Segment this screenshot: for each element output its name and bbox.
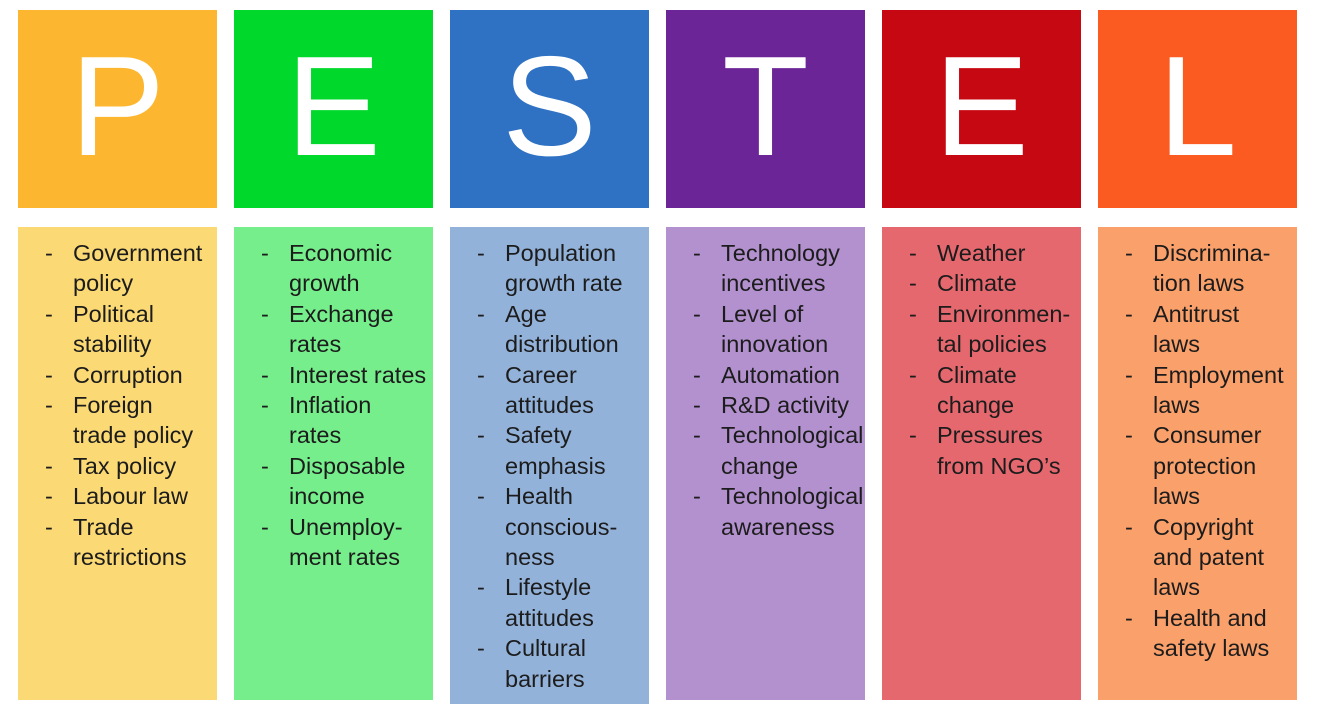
- list-item: -Climate change: [892, 360, 1075, 421]
- list-item: -Cultural barriers: [460, 633, 643, 694]
- list-item-label: Lifestyle attitudes: [505, 574, 594, 630]
- bullet-dash-icon: -: [1125, 420, 1133, 450]
- list-item-label: Economic growth: [289, 240, 392, 296]
- factor-list-technological: -Technology incentives -Level of innovat…: [676, 238, 859, 542]
- list-item-label: Safety emphasis: [505, 422, 606, 478]
- list-item: -Antitrust laws: [1108, 299, 1291, 360]
- list-item: -Climate: [892, 268, 1075, 298]
- letter-glyph-s: S: [502, 36, 597, 178]
- factor-panel-economic: -Economic growth -Exchange rates -Intere…: [234, 227, 433, 700]
- list-item: -Inflation rates: [244, 390, 427, 451]
- list-item-label: Disposable income: [289, 453, 405, 509]
- bullet-dash-icon: -: [45, 238, 53, 268]
- bullet-dash-icon: -: [909, 420, 917, 450]
- list-item: -Population growth rate: [460, 238, 643, 299]
- list-item: -Disposable income: [244, 451, 427, 512]
- pestel-column-political: P -Government policy -Political stabilit…: [18, 10, 217, 700]
- list-item-label: Pressures from NGO’s: [937, 422, 1061, 478]
- list-item: -Level of innovation: [676, 299, 859, 360]
- list-item: -Pressures from NGO’s: [892, 420, 1075, 481]
- bullet-dash-icon: -: [693, 360, 701, 390]
- letter-glyph-e-environmental: E: [934, 36, 1029, 178]
- list-item-label: Unemploy- ment rates: [289, 514, 403, 570]
- factor-panel-legal: -Discrimina- tion laws -Antitrust laws -…: [1098, 227, 1297, 700]
- factor-list-economic: -Economic growth -Exchange rates -Intere…: [244, 238, 427, 572]
- letter-tile-legal: L: [1098, 10, 1297, 208]
- list-item-label: Interest rates: [289, 362, 426, 388]
- list-item: -Labour law: [28, 481, 211, 511]
- factor-list-environmental: -Weather -Climate -Environmen- tal polic…: [892, 238, 1075, 481]
- list-item-label: Antitrust laws: [1153, 301, 1239, 357]
- list-item-label: Cultural barriers: [505, 635, 586, 691]
- list-item: -Consumer protection laws: [1108, 420, 1291, 511]
- list-item: -Interest rates: [244, 360, 427, 390]
- list-item: -Government policy: [28, 238, 211, 299]
- list-item-label: Labour law: [73, 483, 188, 509]
- list-item-label: Automation: [721, 362, 840, 388]
- list-item-label: Technological awareness: [721, 483, 863, 539]
- letter-glyph-e-economic: E: [286, 36, 381, 178]
- letter-tile-political: P: [18, 10, 217, 208]
- bullet-dash-icon: -: [477, 238, 485, 268]
- bullet-dash-icon: -: [909, 360, 917, 390]
- bullet-dash-icon: -: [1125, 603, 1133, 633]
- list-item: -Exchange rates: [244, 299, 427, 360]
- bullet-dash-icon: -: [261, 238, 269, 268]
- bullet-dash-icon: -: [1125, 299, 1133, 329]
- bullet-dash-icon: -: [909, 299, 917, 329]
- list-item-label: Consumer protection laws: [1153, 422, 1261, 509]
- bullet-dash-icon: -: [909, 268, 917, 298]
- list-item-label: Corruption: [73, 362, 183, 388]
- bullet-dash-icon: -: [261, 512, 269, 542]
- list-item-label: Environmen- tal policies: [937, 301, 1070, 357]
- bullet-dash-icon: -: [45, 481, 53, 511]
- letter-glyph-p: P: [70, 36, 165, 178]
- factor-panel-environmental: -Weather -Climate -Environmen- tal polic…: [882, 227, 1081, 700]
- list-item-label: Political stability: [73, 301, 154, 357]
- bullet-dash-icon: -: [1125, 360, 1133, 390]
- bullet-dash-icon: -: [909, 238, 917, 268]
- letter-tile-technological: T: [666, 10, 865, 208]
- pestel-column-economic: E -Economic growth -Exchange rates -Inte…: [234, 10, 433, 700]
- list-item-label: Age distribution: [505, 301, 619, 357]
- list-item-label: Weather: [937, 240, 1025, 266]
- list-item: -Corruption: [28, 360, 211, 390]
- letter-tile-social: S: [450, 10, 649, 208]
- list-item: -Political stability: [28, 299, 211, 360]
- bullet-dash-icon: -: [693, 481, 701, 511]
- list-item: -Technological awareness: [676, 481, 859, 542]
- bullet-dash-icon: -: [693, 299, 701, 329]
- list-item-label: Government policy: [73, 240, 202, 296]
- bullet-dash-icon: -: [477, 299, 485, 329]
- bullet-dash-icon: -: [45, 390, 53, 420]
- bullet-dash-icon: -: [45, 512, 53, 542]
- list-item: -Technology incentives: [676, 238, 859, 299]
- bullet-dash-icon: -: [693, 390, 701, 420]
- list-item-label: Employment laws: [1153, 362, 1284, 418]
- list-item-label: Level of innovation: [721, 301, 828, 357]
- list-item: -Economic growth: [244, 238, 427, 299]
- bullet-dash-icon: -: [1125, 238, 1133, 268]
- list-item-label: Climate change: [937, 362, 1017, 418]
- list-item-label: Inflation rates: [289, 392, 371, 448]
- list-item-label: Technology incentives: [721, 240, 840, 296]
- letter-tile-environmental: E: [882, 10, 1081, 208]
- list-item-label: Copyright and patent laws: [1153, 514, 1264, 601]
- letter-glyph-t: T: [722, 36, 809, 178]
- pestel-column-legal: L -Discrimina- tion laws -Antitrust laws…: [1098, 10, 1297, 700]
- list-item: -Weather: [892, 238, 1075, 268]
- letter-glyph-l: L: [1158, 36, 1237, 178]
- list-item-label: Exchange rates: [289, 301, 394, 357]
- list-item: -Automation: [676, 360, 859, 390]
- list-item: -Safety emphasis: [460, 420, 643, 481]
- list-item: -Health and safety laws: [1108, 603, 1291, 664]
- list-item: -Copyright and patent laws: [1108, 512, 1291, 603]
- list-item: -Age distribution: [460, 299, 643, 360]
- pestel-column-social: S -Population growth rate -Age distribut…: [450, 10, 649, 704]
- bullet-dash-icon: -: [261, 360, 269, 390]
- list-item-label: Foreign trade policy: [73, 392, 193, 448]
- bullet-dash-icon: -: [693, 420, 701, 450]
- list-item: -Technological change: [676, 420, 859, 481]
- factor-list-social: -Population growth rate -Age distributio…: [460, 238, 643, 694]
- pestel-column-environmental: E -Weather -Climate -Environmen- tal pol…: [882, 10, 1081, 700]
- bullet-dash-icon: -: [45, 299, 53, 329]
- list-item-label: Climate: [937, 270, 1017, 296]
- list-item: -Lifestyle attitudes: [460, 572, 643, 633]
- list-item-label: Health conscious- ness: [505, 483, 617, 570]
- list-item: -Career attitudes: [460, 360, 643, 421]
- list-item: -Employment laws: [1108, 360, 1291, 421]
- list-item: -Environmen- tal policies: [892, 299, 1075, 360]
- list-item: -Discrimina- tion laws: [1108, 238, 1291, 299]
- list-item-label: Discrimina- tion laws: [1153, 240, 1271, 296]
- list-item-label: R&D activity: [721, 392, 849, 418]
- list-item-label: Population growth rate: [505, 240, 623, 296]
- factor-panel-social: -Population growth rate -Age distributio…: [450, 227, 649, 704]
- factor-panel-technological: -Technology incentives -Level of innovat…: [666, 227, 865, 700]
- bullet-dash-icon: -: [45, 360, 53, 390]
- bullet-dash-icon: -: [477, 420, 485, 450]
- bullet-dash-icon: -: [693, 238, 701, 268]
- factor-panel-political: -Government policy -Political stability …: [18, 227, 217, 700]
- pestel-diagram: P -Government policy -Political stabilit…: [0, 0, 1320, 715]
- bullet-dash-icon: -: [477, 633, 485, 663]
- bullet-dash-icon: -: [1125, 512, 1133, 542]
- list-item: -R&D activity: [676, 390, 859, 420]
- bullet-dash-icon: -: [45, 451, 53, 481]
- factor-list-political: -Government policy -Political stability …: [28, 238, 211, 572]
- list-item-label: Technological change: [721, 422, 863, 478]
- list-item-label: Health and safety laws: [1153, 605, 1269, 661]
- list-item-label: Trade restrictions: [73, 514, 187, 570]
- list-item: -Trade restrictions: [28, 512, 211, 573]
- bullet-dash-icon: -: [477, 572, 485, 602]
- bullet-dash-icon: -: [477, 360, 485, 390]
- bullet-dash-icon: -: [261, 390, 269, 420]
- list-item-label: Career attitudes: [505, 362, 594, 418]
- letter-tile-economic: E: [234, 10, 433, 208]
- list-item: -Tax policy: [28, 451, 211, 481]
- list-item: -Unemploy- ment rates: [244, 512, 427, 573]
- bullet-dash-icon: -: [477, 481, 485, 511]
- pestel-column-technological: T -Technology incentives -Level of innov…: [666, 10, 865, 700]
- list-item: -Foreign trade policy: [28, 390, 211, 451]
- list-item: -Health conscious- ness: [460, 481, 643, 572]
- bullet-dash-icon: -: [261, 299, 269, 329]
- factor-list-legal: -Discrimina- tion laws -Antitrust laws -…: [1108, 238, 1291, 664]
- list-item-label: Tax policy: [73, 453, 176, 479]
- bullet-dash-icon: -: [261, 451, 269, 481]
